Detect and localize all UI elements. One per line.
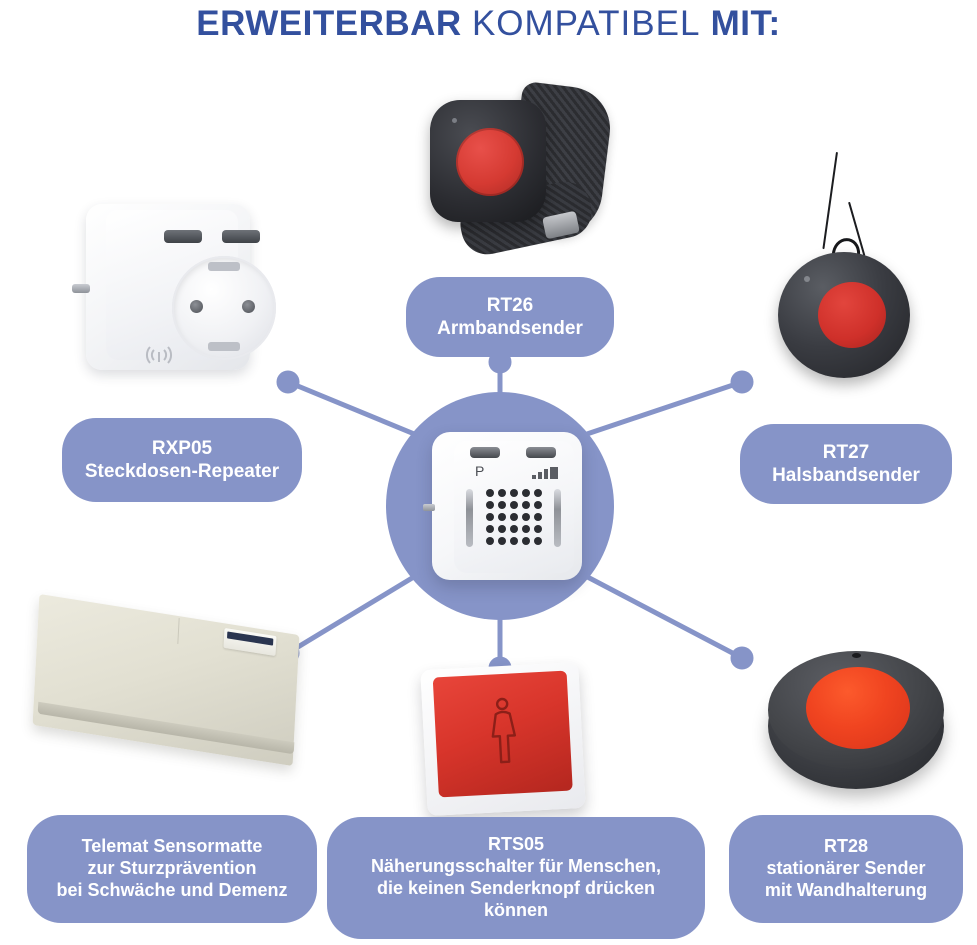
connector-to-rt27 — [578, 382, 742, 437]
label-sensor-mat[interactable]: Telemat Sensormatte zur Sturzprävention … — [27, 815, 317, 923]
label-rt26-desc-1: Armbandsender — [437, 317, 583, 340]
hub-slot-right — [526, 447, 556, 458]
label-mat-desc-2: bei Schwäche und Demenz — [56, 880, 287, 902]
label-rt28-desc-1: stationärer Sender — [766, 858, 925, 880]
socket-outlet — [172, 256, 276, 360]
connector-to-rxp05 — [288, 382, 424, 438]
label-rt27-code: RT27 — [823, 441, 869, 464]
signal-bars-icon — [532, 467, 558, 479]
label-rts05[interactable]: RTS05 Näherungsschalter für Menschen, di… — [327, 817, 705, 939]
hub-strip-left — [466, 489, 473, 547]
hub-slot-left — [470, 447, 500, 458]
label-mat-desc-1: zur Sturzprävention — [87, 858, 256, 880]
wall-button-red-cap — [806, 667, 910, 749]
connector-dot-rt27 — [733, 373, 751, 391]
socket-indicator-right — [222, 230, 260, 243]
label-rxp05-desc-1: Steckdosen-Repeater — [85, 460, 279, 483]
person-pictogram-icon — [482, 695, 526, 769]
wristband-emergency-button — [456, 128, 524, 196]
label-rt28[interactable]: RT28 stationärer Sender mit Wandhalterun… — [729, 815, 963, 923]
label-rts05-desc-3: können — [484, 900, 548, 922]
label-mat-code: Telemat Sensormatte — [82, 836, 263, 858]
socket-plug-pin — [72, 284, 90, 293]
label-rt28-desc-2: mit Wandhalterung — [765, 880, 927, 902]
hub-strip-right — [554, 489, 561, 547]
power-socket-repeater-icon — [72, 198, 264, 380]
proximity-switch-icon — [420, 660, 592, 818]
label-rt26-code: RT26 — [487, 294, 533, 317]
label-rxp05-code: RXP05 — [152, 437, 212, 460]
hub-speaker-grid — [486, 489, 542, 545]
connector-dot-rt28 — [733, 649, 751, 667]
label-rxp05[interactable]: RXP05 Steckdosen-Repeater — [62, 418, 302, 502]
hub-face-label: P — [475, 463, 484, 479]
proximity-switch-pad — [433, 671, 573, 798]
compatibility-diagram: ERWEITERBAR KOMPATIBEL MIT: P — [0, 0, 977, 945]
sensor-mat-icon — [28, 610, 318, 770]
pendant-body — [778, 252, 910, 378]
label-rts05-desc-2: die keinen Senderknopf drücken — [377, 878, 655, 900]
pendant-cord — [822, 152, 838, 249]
wristband-case — [430, 100, 546, 222]
label-rt28-code: RT28 — [824, 836, 868, 858]
wristband-transmitter-icon — [418, 78, 614, 264]
label-rt26[interactable]: RT26 Armbandsender — [406, 277, 614, 357]
label-rts05-desc-1: Näherungsschalter für Menschen, — [371, 856, 661, 878]
central-alarm-unit-icon: P — [432, 432, 582, 584]
label-rt27-desc-1: Halsbandsender — [772, 464, 920, 487]
connector-dot-rxp05 — [279, 373, 297, 391]
hub-side-connector — [423, 504, 435, 511]
neck-pendant-transmitter-icon — [760, 152, 940, 388]
label-rt27[interactable]: RT27 Halsbandsender — [740, 424, 952, 504]
pendant-emergency-button — [818, 282, 886, 348]
socket-indicator-left — [164, 230, 202, 243]
wireless-signal-icon — [142, 340, 176, 366]
wall-mount-button-icon — [762, 645, 952, 805]
label-rts05-code: RTS05 — [488, 834, 544, 856]
connector-to-rt28 — [578, 572, 742, 658]
